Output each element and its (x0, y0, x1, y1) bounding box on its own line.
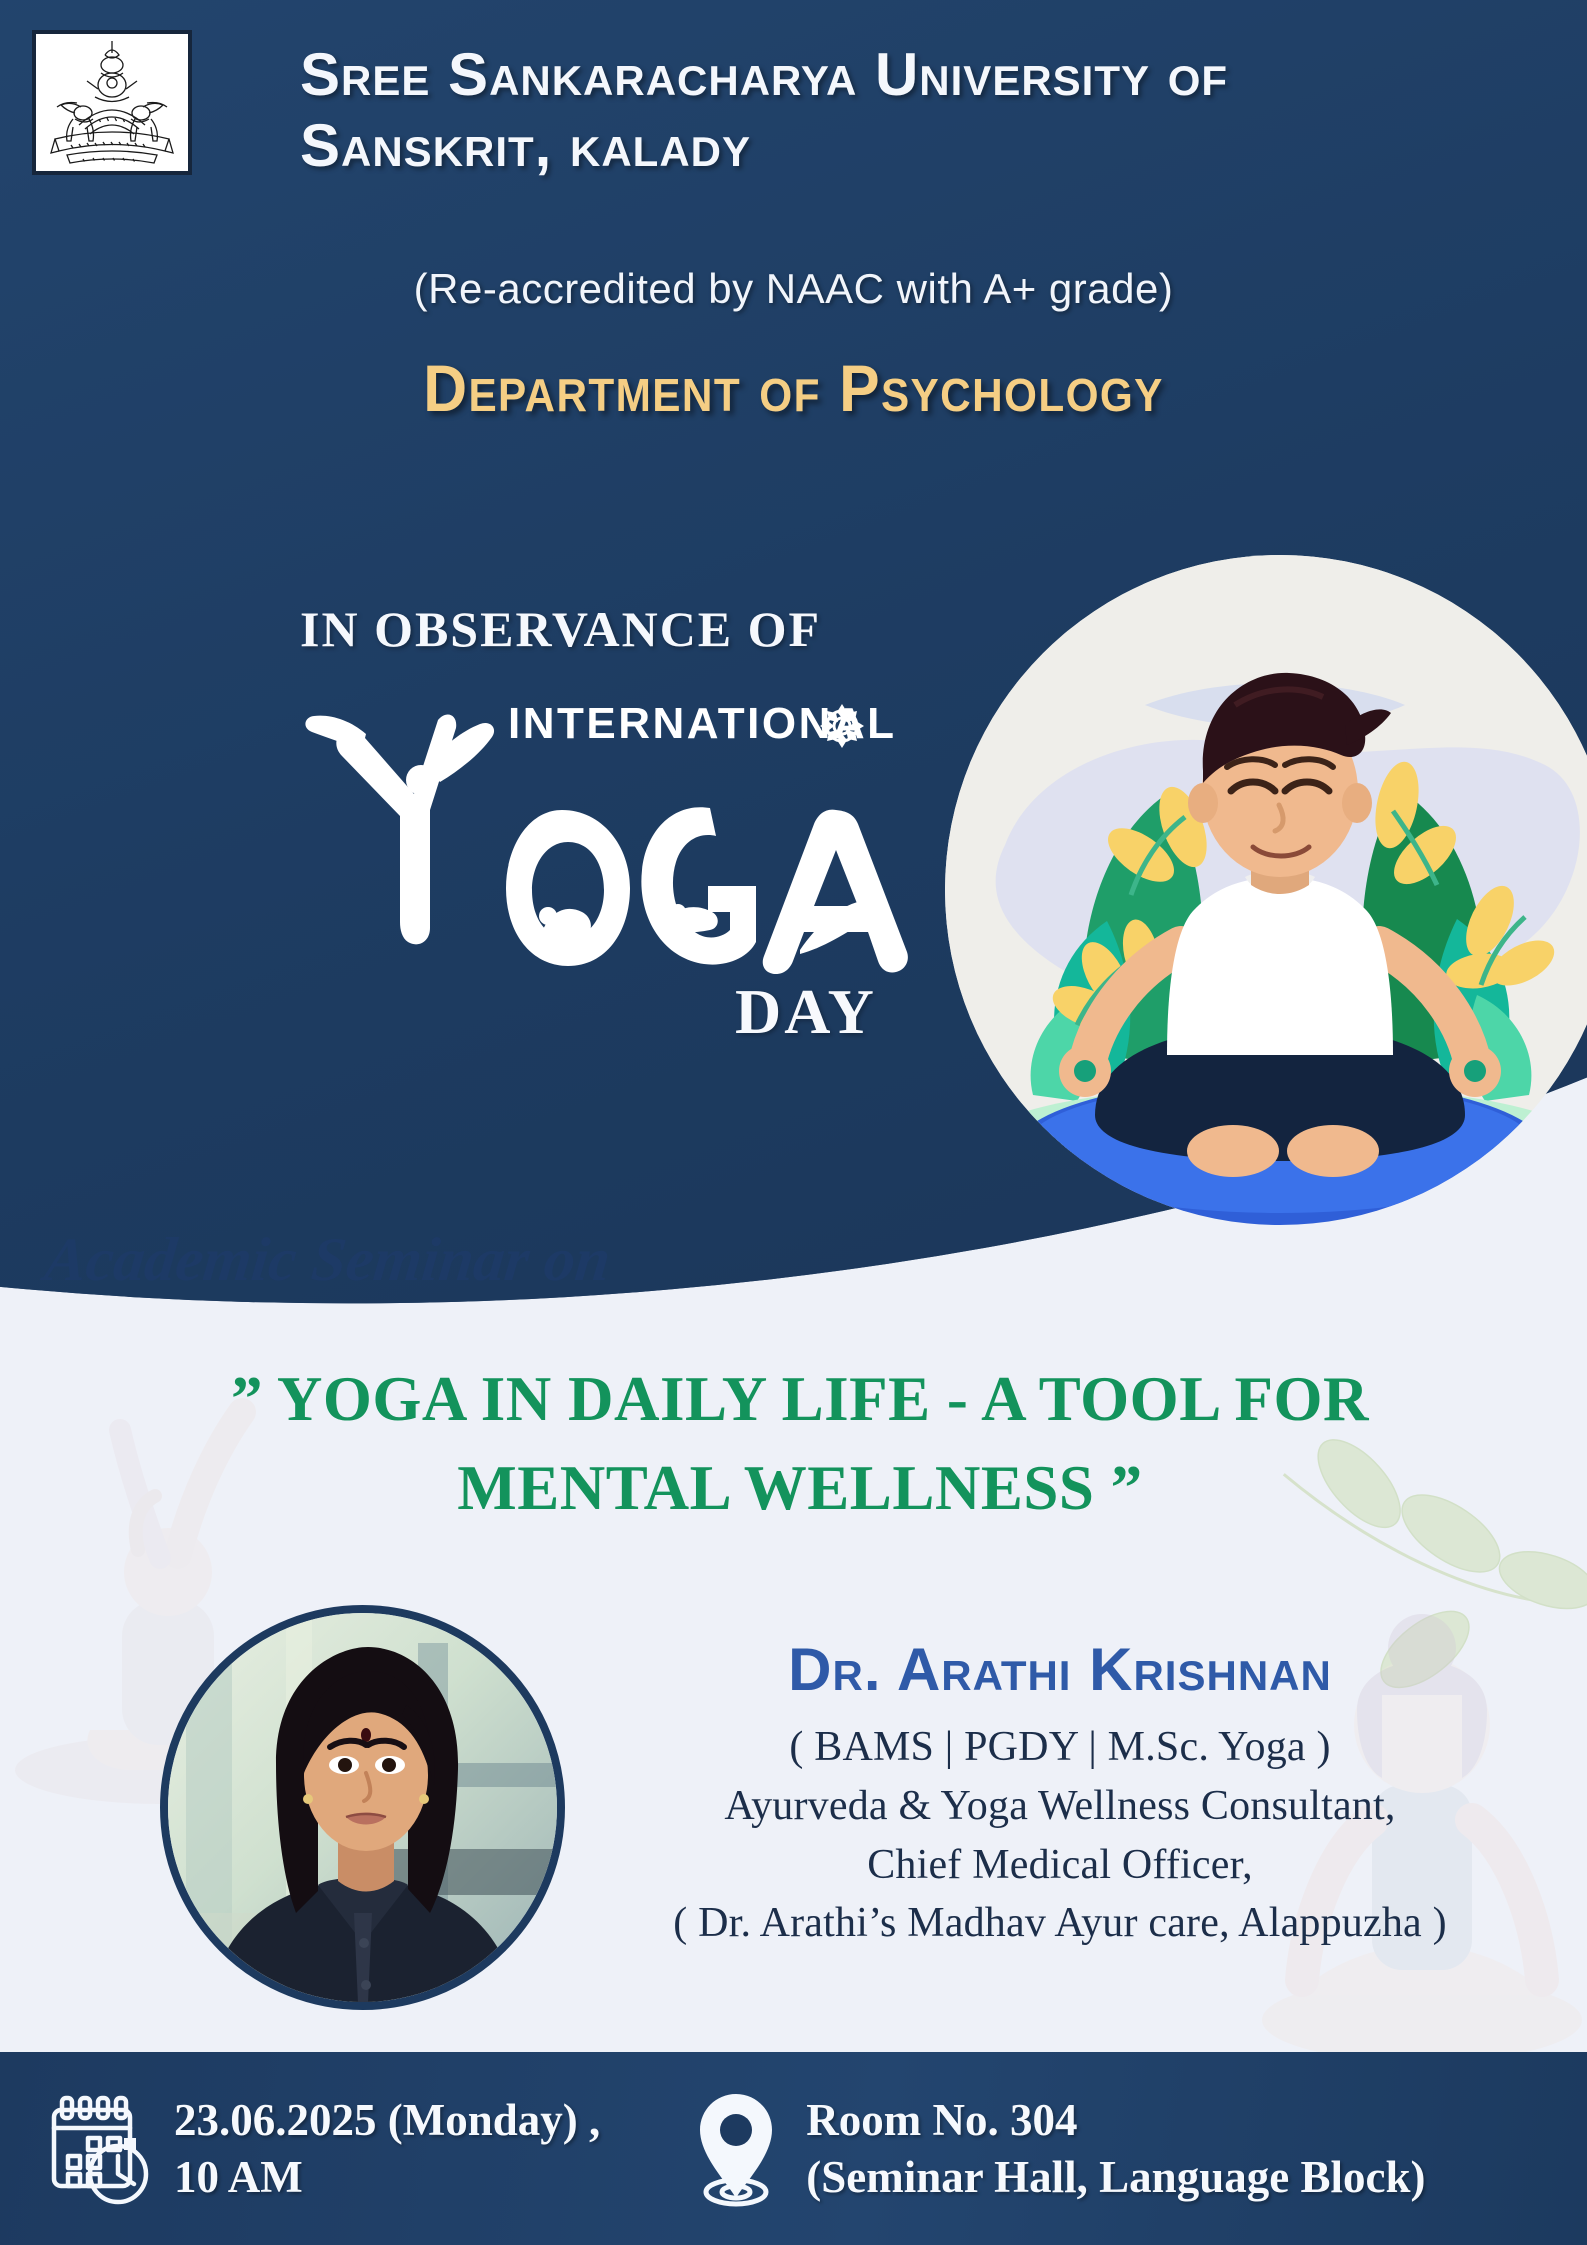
page-title: Sree Sankaracharya University of Sanskri… (300, 40, 1480, 182)
observance-label: IN OBSERVANCE OF (300, 600, 821, 658)
seminar-title-line-1: ˮ YOGA IN DAILY LIFE - A TOOL FOR (110, 1355, 1490, 1444)
meditating-man-illustration-icon (945, 555, 1587, 1225)
location-pin-icon (688, 2088, 784, 2210)
meditation-illustration (945, 555, 1587, 1225)
seminar-title-line-2: MENTAL WELLNESS ˮ (110, 1444, 1490, 1533)
speaker-avatar (160, 1605, 565, 2010)
event-datetime: 23.06.2025 (Monday) , 10 AM (42, 2090, 600, 2208)
seminar-title: ˮ YOGA IN DAILY LIFE - A TOOL FOR MENTAL… (110, 1355, 1490, 1534)
seminar-kicker: Academic Seminar on (41, 1225, 613, 1296)
speaker-credentials: ( BAMS | PGDY | M.Sc. Yoga ) (600, 1718, 1520, 1777)
speaker-role-secondary: Chief Medical Officer, (600, 1836, 1520, 1895)
event-time: 10 AM (174, 2149, 600, 2205)
speaker-details: Dr. Arathi Krishnan ( BAMS | PGDY | M.Sc… (600, 1635, 1520, 1953)
department-title: Department of Psychology (63, 350, 1523, 426)
speaker-name: Dr. Arathi Krishnan (600, 1635, 1520, 1704)
footer-bar: 23.06.2025 (Monday) , 10 AM Room No. 304… (0, 2052, 1587, 2245)
university-emblem-icon (37, 33, 187, 173)
event-venue-text: Room No. 304 (Seminar Hall, Language Blo… (806, 2092, 1425, 2205)
event-datetime-text: 23.06.2025 (Monday) , 10 AM (174, 2092, 600, 2205)
speaker-photo-icon (168, 1613, 558, 2003)
speaker-role-primary: Ayurveda & Yoga Wellness Consultant, (600, 1777, 1520, 1836)
venue-room: Room No. 304 (806, 2092, 1425, 2148)
event-venue: Room No. 304 (Seminar Hall, Language Blo… (688, 2088, 1425, 2210)
speaker-affiliation: ( Dr. Arathi’s Madhav Ayur care, Alappuz… (600, 1894, 1520, 1953)
international-yoga-day-logo: INTERNATIONAL (280, 690, 920, 1020)
event-date: 23.06.2025 (Monday) , (174, 2092, 600, 2148)
yoga-day-word: DAY (735, 975, 877, 1049)
poster-root: Sree Sankaracharya University of Sanskri… (0, 0, 1587, 2245)
accreditation-text: (Re-accredited by NAAC with A+ grade) (0, 265, 1587, 313)
university-logo (32, 30, 192, 175)
calendar-clock-icon (42, 2090, 150, 2208)
venue-hall: (Seminar Hall, Language Block) (806, 2149, 1425, 2205)
